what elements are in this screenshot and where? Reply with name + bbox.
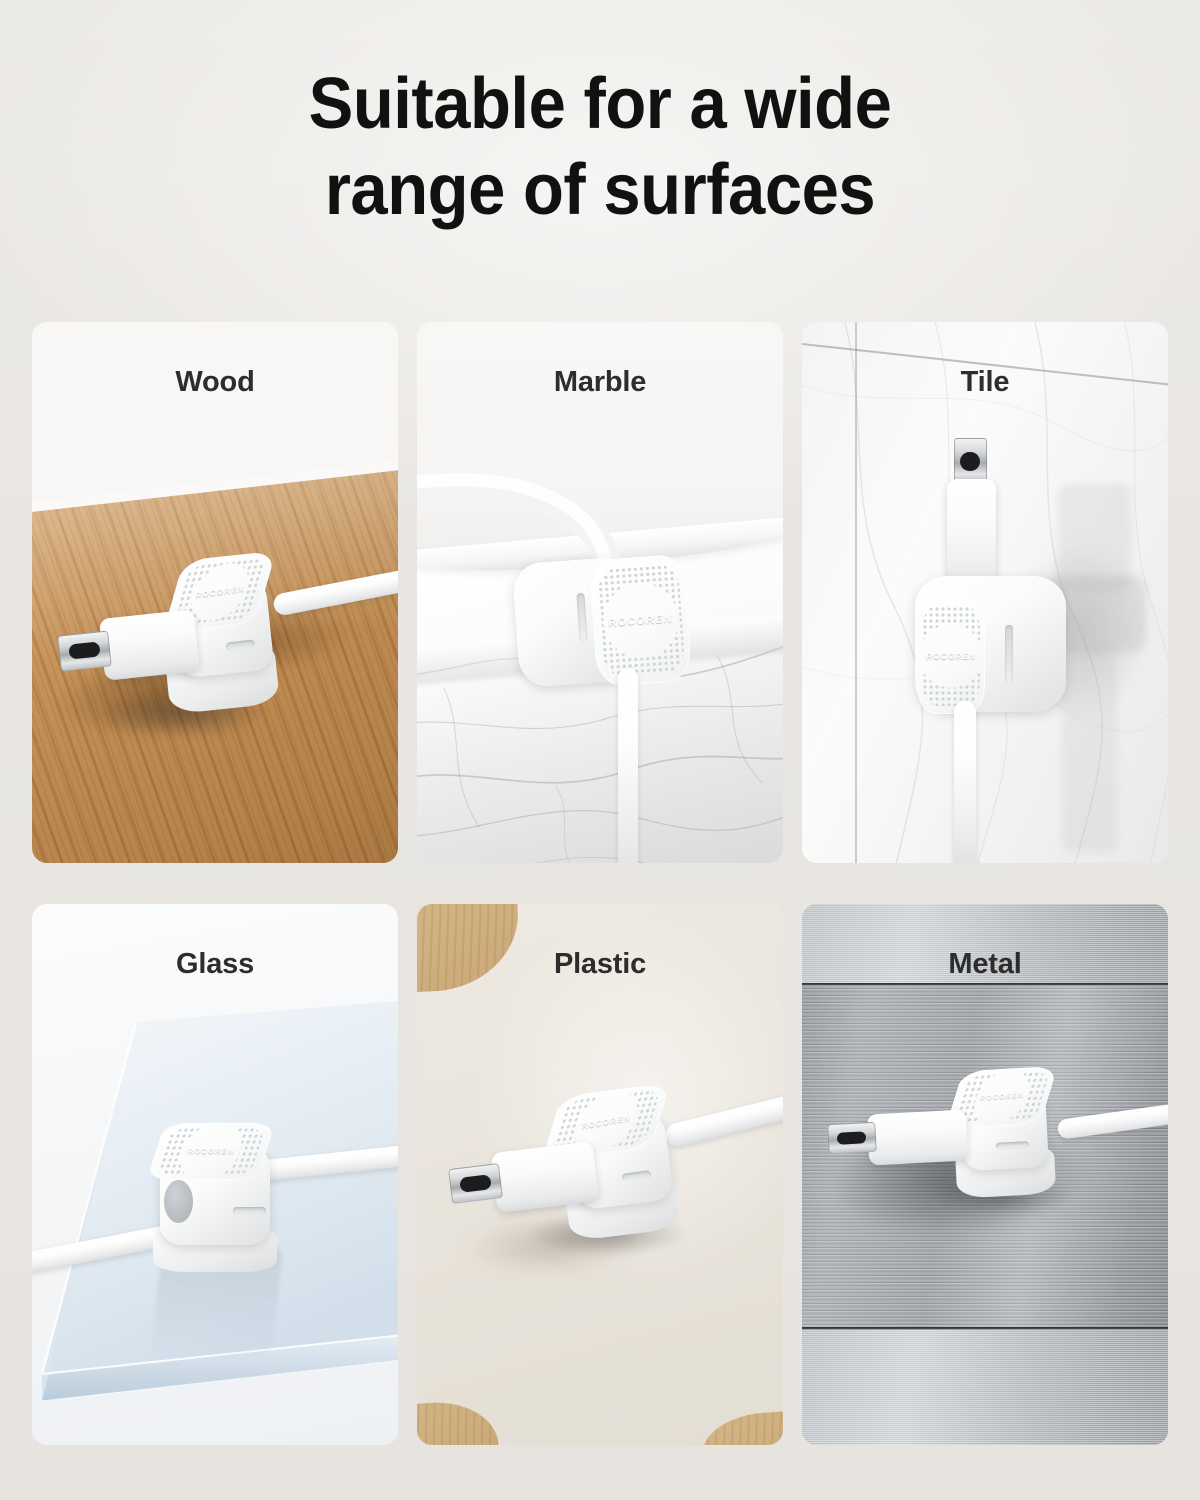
card-label-plastic: Plastic [417,948,783,981]
brand-logo: ROCOREN [926,651,976,661]
surface-card-marble[interactable]: ROCOREN Marble [417,322,783,863]
usb-c-plug-tip [448,1163,503,1204]
surface-card-wood[interactable]: ROCOREN Wood [32,322,398,863]
wood-scene: ROCOREN [32,322,398,863]
cable-hanging [954,701,976,863]
page-title: Suitable for a wide range of surfaces [42,62,1158,233]
marble-scene: ROCOREN [417,322,783,863]
cable-clip-product-plastic: ROCOREN [417,904,783,1445]
cable-hanging [618,668,638,863]
card-label-tile: Tile [802,366,1168,399]
clip-slot [1005,625,1013,685]
product-feature-page: Suitable for a wide range of surfaces [0,0,1200,1500]
cable-right [254,1143,398,1182]
card-label-marble: Marble [417,366,783,399]
usb-c-plug-barrel [867,1110,968,1166]
metal-scene: ROCOREN [802,904,1168,1445]
clip-face: ROCOREN [917,598,985,714]
card-label-metal: Metal [802,948,1168,981]
cable-clip-product-tile: ROCOREN [802,322,1168,863]
cable-clip-product-marble: ROCOREN [417,322,783,863]
surface-card-grid: ROCOREN Wood [32,322,1168,1445]
plastic-scene: ROCOREN [417,904,783,1445]
surface-card-glass[interactable]: ROCOREN Glass [32,904,398,1445]
cable-right [663,1085,783,1148]
surface-card-tile[interactable]: ROCOREN Tile [802,322,1168,863]
cable-entry-hole [164,1180,193,1223]
clip-face: ROCOREN [147,1123,275,1180]
card-label-wood: Wood [32,366,398,399]
card-label-glass: Glass [32,948,398,981]
tile-scene: ROCOREN [802,322,1168,863]
usb-c-plug-tip [58,630,113,671]
surface-card-metal[interactable]: ROCOREN Metal [802,904,1168,1445]
cable-clip-product-wood: ROCOREN [32,322,398,863]
header: Suitable for a wide range of surfaces [0,62,1200,233]
clip-face: ROCOREN [588,554,692,687]
glass-scene: ROCOREN [32,904,398,1445]
surface-card-plastic[interactable]: ROCOREN Plastic [417,904,783,1445]
usb-c-plug-barrel [99,609,200,681]
clip-slot [233,1207,266,1215]
cable-clip-product-metal: ROCOREN [802,904,1168,1445]
cable-right [271,566,398,617]
usb-c-plug-tip [827,1122,876,1154]
usb-c-plug-tip [954,438,987,484]
cable-right [1057,1100,1168,1140]
brand-logo: ROCOREN [188,1147,235,1156]
cable-clip-product-glass: ROCOREN [32,904,398,1445]
